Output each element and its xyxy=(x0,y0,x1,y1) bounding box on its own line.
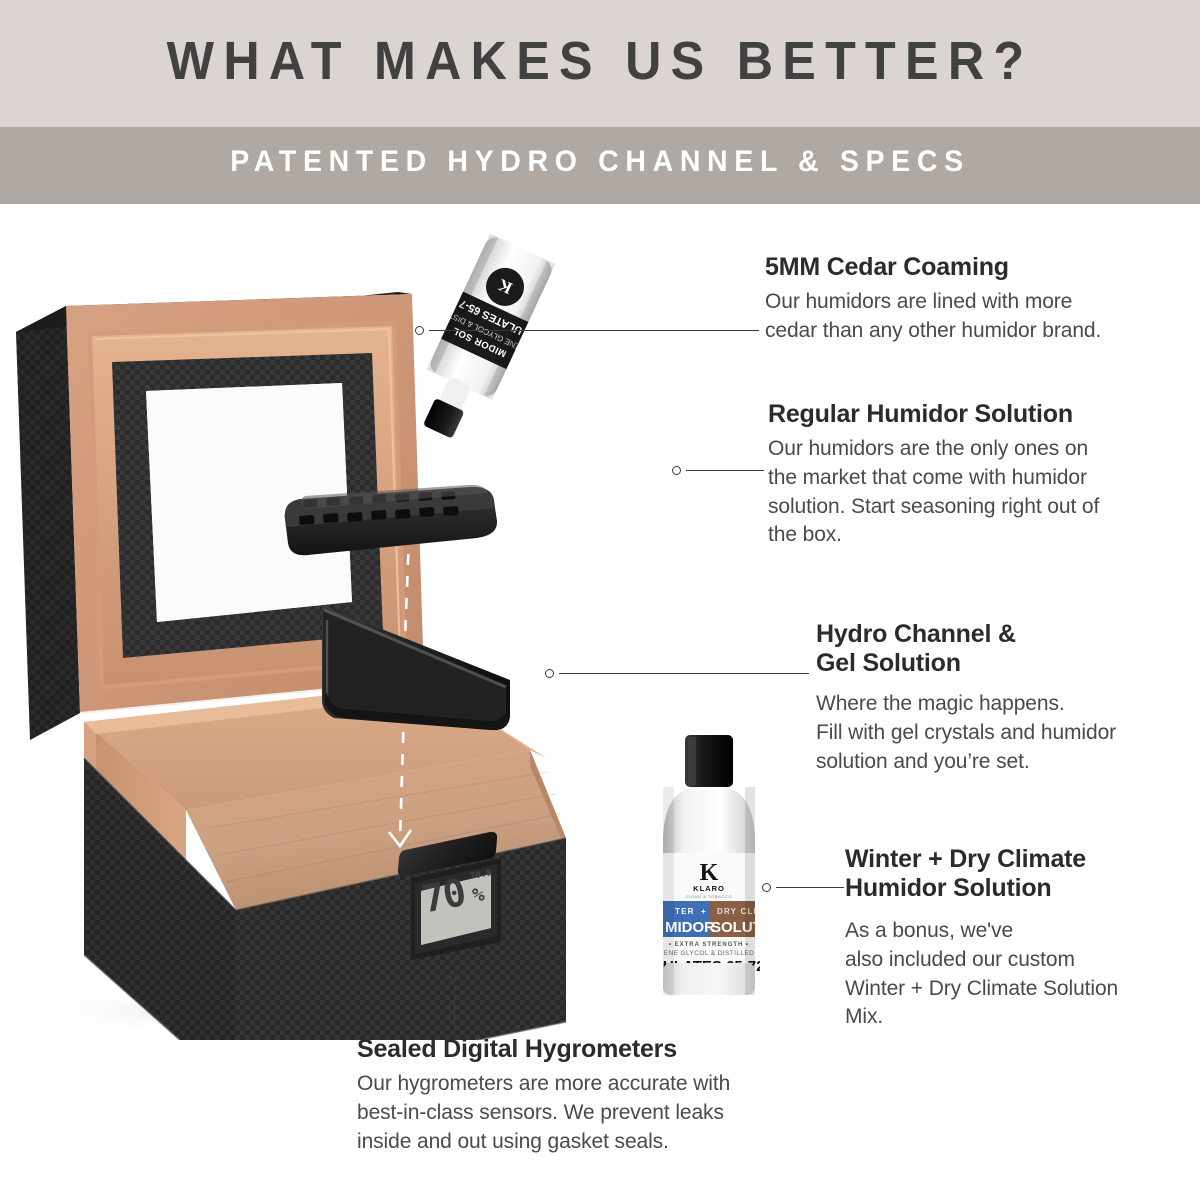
feature-winter-title: Winter + Dry Climate Humidor Solution xyxy=(845,845,1180,903)
header-band-primary: WHAT MAKES US BETTER? xyxy=(0,0,1200,127)
hygrometer-unit: % xyxy=(471,885,486,906)
leader-line-cedar xyxy=(415,325,765,337)
leader-stroke-cedar xyxy=(429,330,759,331)
feature-regular-title: Regular Humidor Solution xyxy=(768,400,1168,429)
leader-line-regular xyxy=(672,465,768,477)
svg-text:K: K xyxy=(700,860,719,886)
svg-text:CIGAR & TOBACCO: CIGAR & TOBACCO xyxy=(686,894,732,899)
leader-dot-regular xyxy=(672,466,681,475)
header-band-secondary: PATENTED HYDRO CHANNEL & SPECS xyxy=(0,127,1200,204)
svg-text:KLARO: KLARO xyxy=(693,884,725,893)
leader-line-hydro xyxy=(545,668,815,680)
feature-winter-body: As a bonus, we've also included our cust… xyxy=(845,917,1180,1032)
feature-hydro-body: Where the magic happens. Fill with gel c… xyxy=(816,690,1186,776)
leader-stroke-hydro xyxy=(559,673,809,674)
infographic-page: WHAT MAKES US BETTER? PATENTED HYDRO CHA… xyxy=(0,0,1200,1200)
leader-line-winter xyxy=(762,882,847,894)
hygrometer-secondary-reading: 70.0 xyxy=(469,869,492,882)
page-subtitle: PATENTED HYDRO CHANNEL & SPECS xyxy=(30,145,1170,179)
feature-regular-body: Our humidors are the only ones on the ma… xyxy=(768,435,1168,550)
feature-cedar-coaming: 5MM Cedar Coaming Our humidors are lined… xyxy=(765,253,1185,346)
leader-stroke-regular xyxy=(686,470,764,471)
feature-hydro-channel: Hydro Channel & Gel Solution Where the m… xyxy=(816,620,1186,776)
hygrometer-reading: 70 xyxy=(419,873,467,918)
feature-hygrometer-body: Our hygrometers are more accurate with b… xyxy=(357,1070,817,1156)
leader-dot-hygrometer xyxy=(450,972,459,981)
page-title: WHAT MAKES US BETTER? xyxy=(42,30,1158,92)
svg-text:ENE GLYCOL & DISTILLED: ENE GLYCOL & DISTILLED xyxy=(664,950,754,957)
leader-stroke-hygrometer xyxy=(454,986,455,1032)
svg-text:• EXTRA STRENGTH •: • EXTRA STRENGTH • xyxy=(669,942,749,948)
leader-dot-winter xyxy=(762,883,771,892)
feature-digital-hygrometers: Sealed Digital Hygrometers Our hygromete… xyxy=(357,1035,817,1156)
leader-dot-cedar xyxy=(415,326,424,335)
leader-stroke-winter xyxy=(776,887,844,888)
feature-winter-solution: Winter + Dry Climate Humidor Solution As… xyxy=(845,845,1180,1032)
leader-dot-hydro xyxy=(545,669,554,678)
svg-text:+: + xyxy=(701,907,706,916)
svg-text:TER: TER xyxy=(675,907,695,916)
feature-hydro-title: Hydro Channel & Gel Solution xyxy=(816,620,1186,678)
feature-regular-solution: Regular Humidor Solution Our humidors ar… xyxy=(768,400,1168,550)
feature-hygrometer-title: Sealed Digital Hygrometers xyxy=(357,1035,817,1064)
feature-cedar-title: 5MM Cedar Coaming xyxy=(765,253,1185,282)
feature-cedar-body: Our humidors are lined with more cedar t… xyxy=(765,288,1185,346)
leader-line-hygrometer xyxy=(450,972,462,1034)
